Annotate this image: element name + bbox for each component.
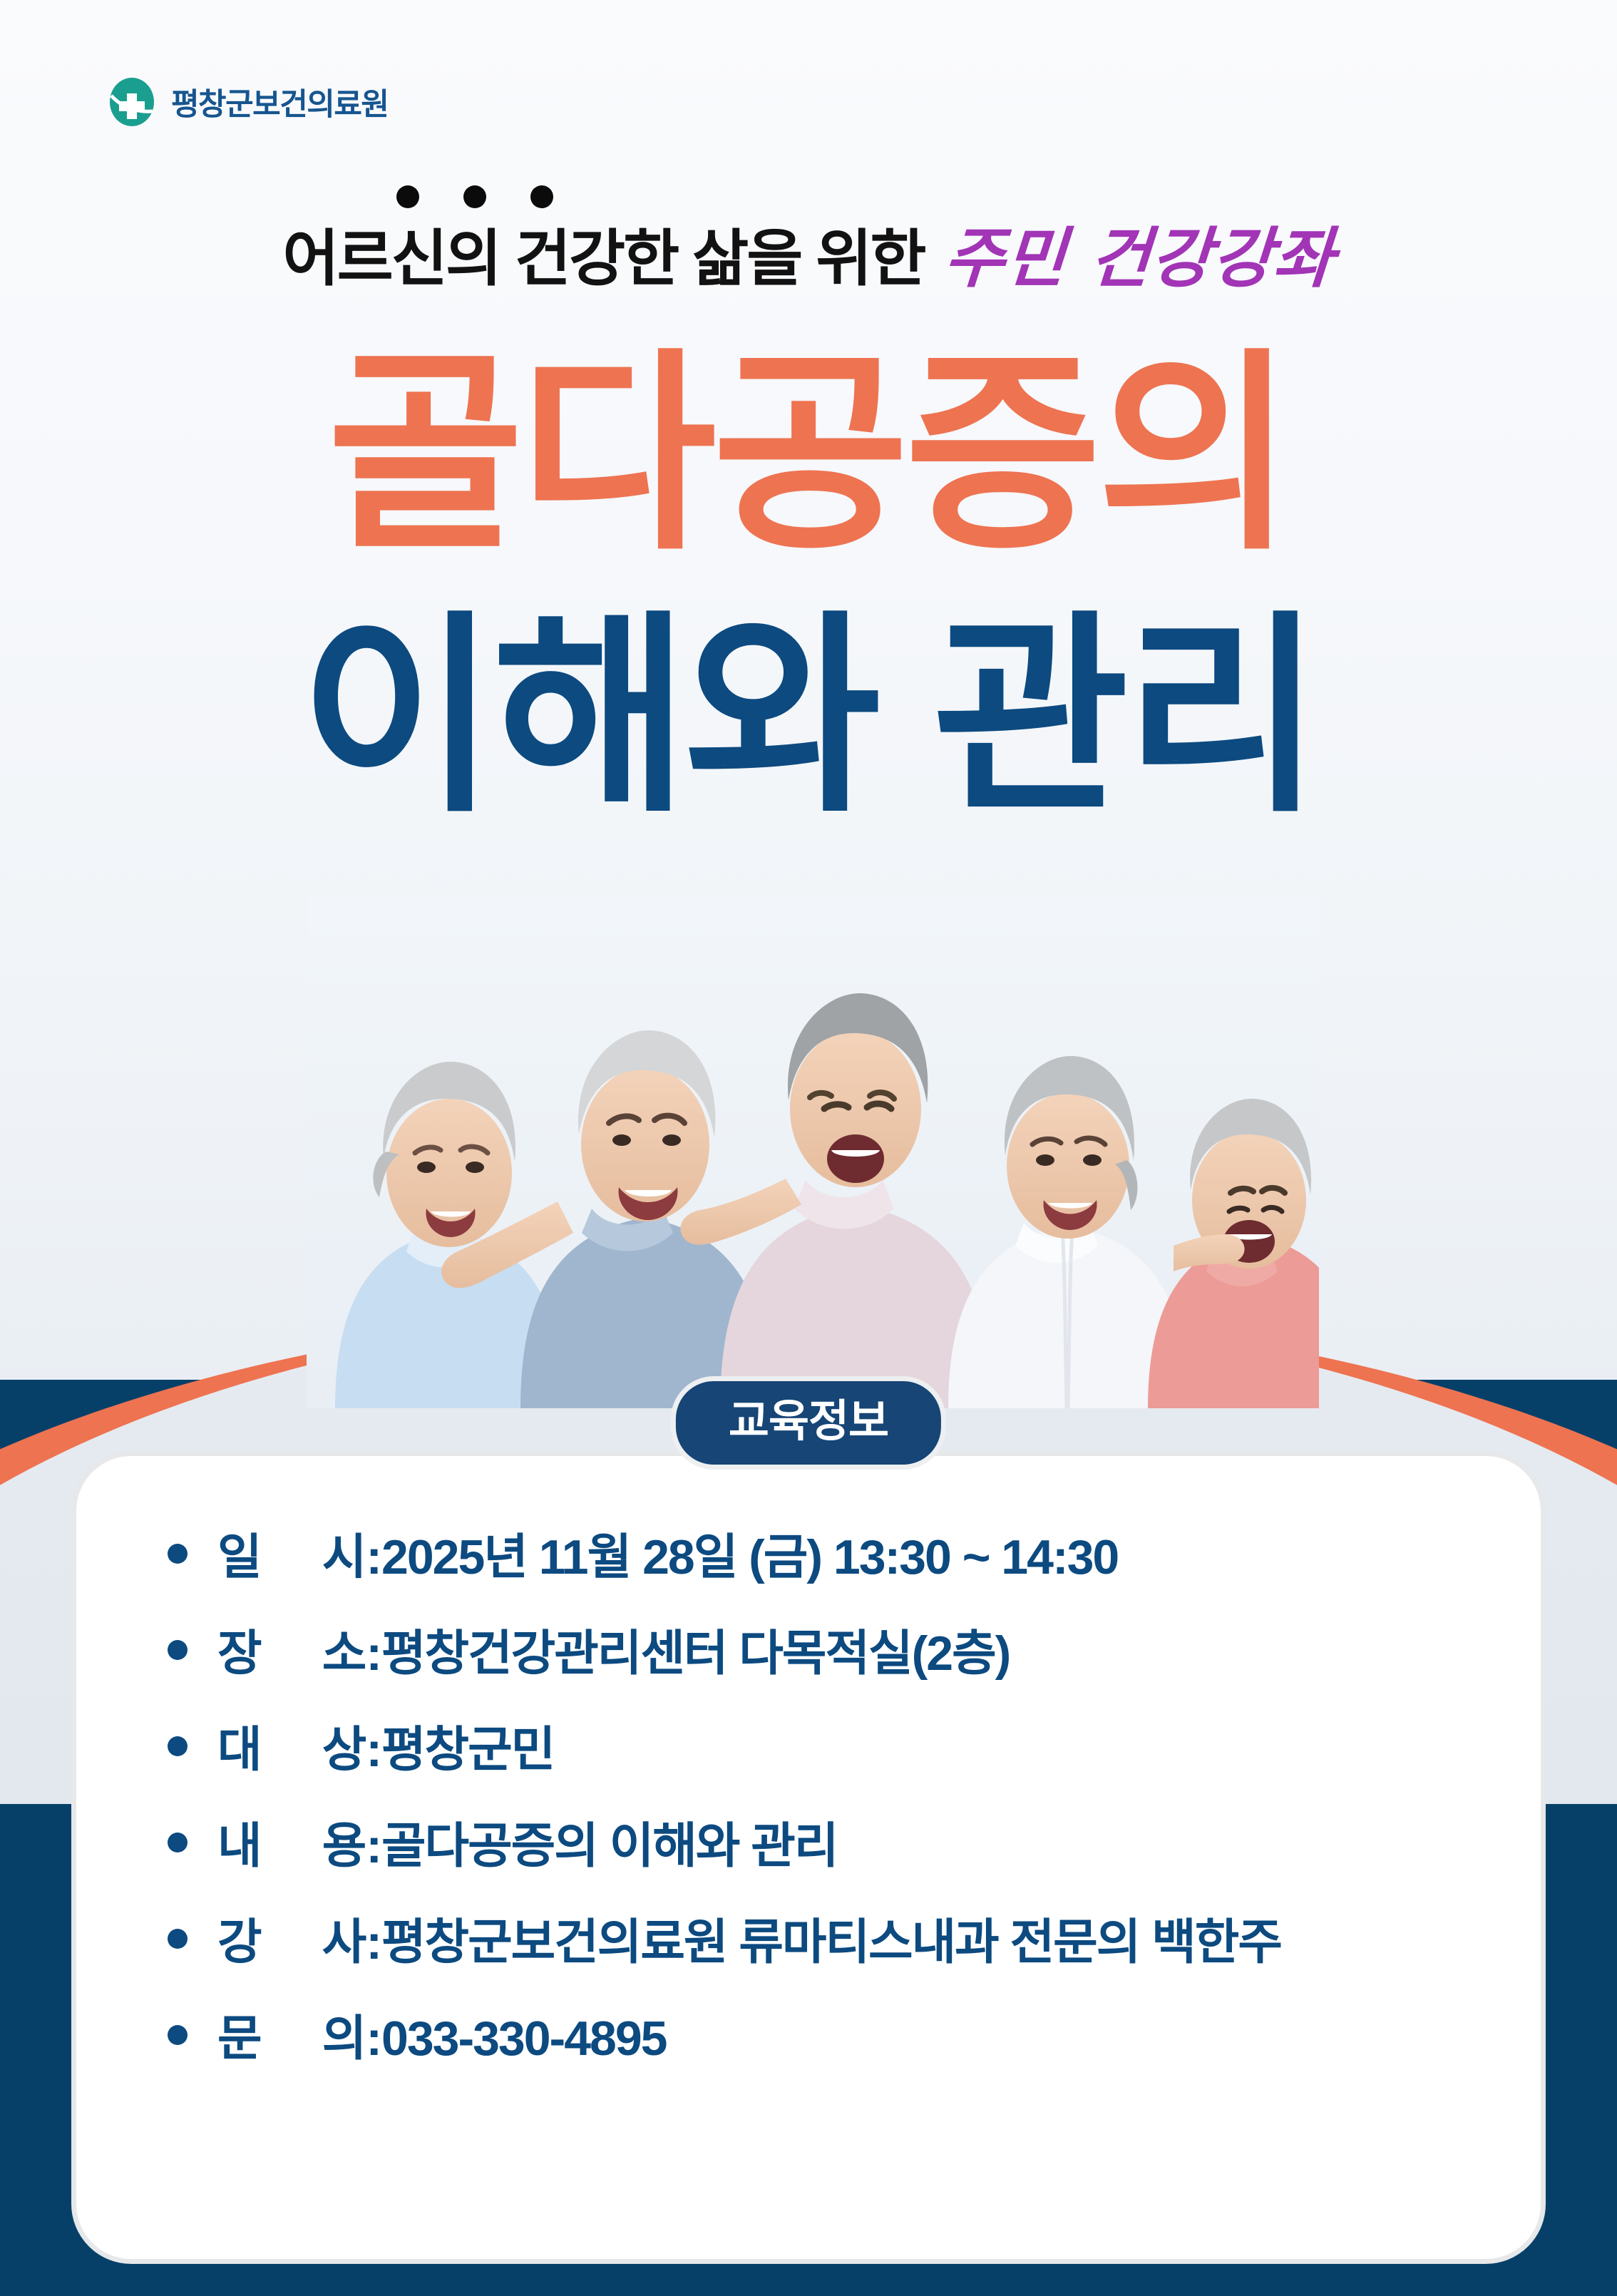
info-row-value: 평창건강관리센터 다목적실(2층) [381, 1614, 1010, 1684]
info-row-label: 장 소: [217, 1614, 381, 1684]
info-row-label: 일 시: [217, 1517, 381, 1588]
poster-root: 평창군보건의료원 어르신의 건강한 삶을 위한주민 건강강좌 골다공증의 이해와… [0, 0, 1617, 2296]
bullet-icon [168, 1640, 188, 1660]
info-row-value: 2025년 11월 28일 (금) 13:30 ~ 14:30 [381, 1517, 1118, 1588]
info-row-label-a: 내 [217, 1806, 262, 1877]
info-row-label-a: 대 [217, 1710, 262, 1780]
info-row-label-a: 일 [217, 1517, 262, 1588]
info-row-label: 문 의: [217, 1999, 381, 2069]
headline-highlight: 주민 건강강좌 [941, 205, 1338, 300]
info-row-datetime: 일 시: 2025년 11월 28일 (금) 13:30 ~ 14:30 [76, 1517, 1541, 1588]
education-info-badge: 교육정보 [671, 1376, 946, 1470]
info-row-label: 강 사: [217, 1902, 381, 1973]
info-row-label-b: 사: [322, 1902, 381, 1973]
headline-prefix: 어르신의 건강한 삶을 위한 [283, 225, 925, 293]
info-row-label-a: 장 [217, 1614, 262, 1684]
bullet-icon [168, 1736, 188, 1756]
info-row-label-a: 문 [217, 1999, 262, 2069]
info-row-value: 033-330-4895 [381, 2011, 666, 2066]
info-row-audience: 대 상: 평창군민 [76, 1710, 1541, 1780]
headline: 어르신의 건강한 삶을 위한주민 건강강좌 [0, 205, 1617, 300]
organization-logo: 평창군보건의료원 [106, 76, 388, 128]
info-row-label-b: 용: [322, 1806, 381, 1877]
info-row-label-b: 상: [322, 1710, 381, 1780]
info-row-label-b: 소: [322, 1614, 381, 1684]
info-row-value: 평창군민 [381, 1710, 554, 1780]
info-row-label: 대 상: [217, 1710, 381, 1780]
seniors-photo [307, 895, 1319, 1408]
info-row-value: 골다공증의 이해와 관리 [381, 1806, 837, 1877]
info-row-value: 평창군보건의료원 류마티스내과 전문의 백한주 [381, 1902, 1281, 1973]
info-row-label: 내 용: [217, 1806, 381, 1877]
education-info-badge-label: 교육정보 [671, 1376, 946, 1470]
info-row-label-b: 의: [322, 1999, 381, 2069]
info-row-content: 내 용: 골다공증의 이해와 관리 [76, 1806, 1541, 1877]
info-row-label-a: 강 [217, 1902, 262, 1973]
info-row-contact: 문 의: 033-330-4895 [76, 1999, 1541, 2069]
bullet-icon [168, 1544, 188, 1564]
info-row-label-b: 시: [322, 1517, 381, 1588]
education-info-list: 일 시: 2025년 11월 28일 (금) 13:30 ~ 14:30 장 소… [76, 1517, 1541, 2069]
info-row-lecturer: 강 사: 평창군보건의료원 류마티스내과 전문의 백한주 [76, 1902, 1541, 1973]
education-info-card: 일 시: 2025년 11월 28일 (금) 13:30 ~ 14:30 장 소… [71, 1451, 1546, 2264]
page-title-line2: 이해와 관리 [0, 610, 1617, 824]
bullet-icon [168, 1833, 188, 1852]
bullet-icon [168, 1929, 188, 1949]
info-row-location: 장 소: 평창건강관리센터 다목적실(2층) [76, 1614, 1541, 1684]
bullet-icon [168, 2025, 188, 2045]
organization-name: 평창군보건의료원 [171, 80, 388, 124]
page-title-line1: 골다공증의 [0, 347, 1617, 561]
health-center-logo-icon [106, 76, 158, 128]
